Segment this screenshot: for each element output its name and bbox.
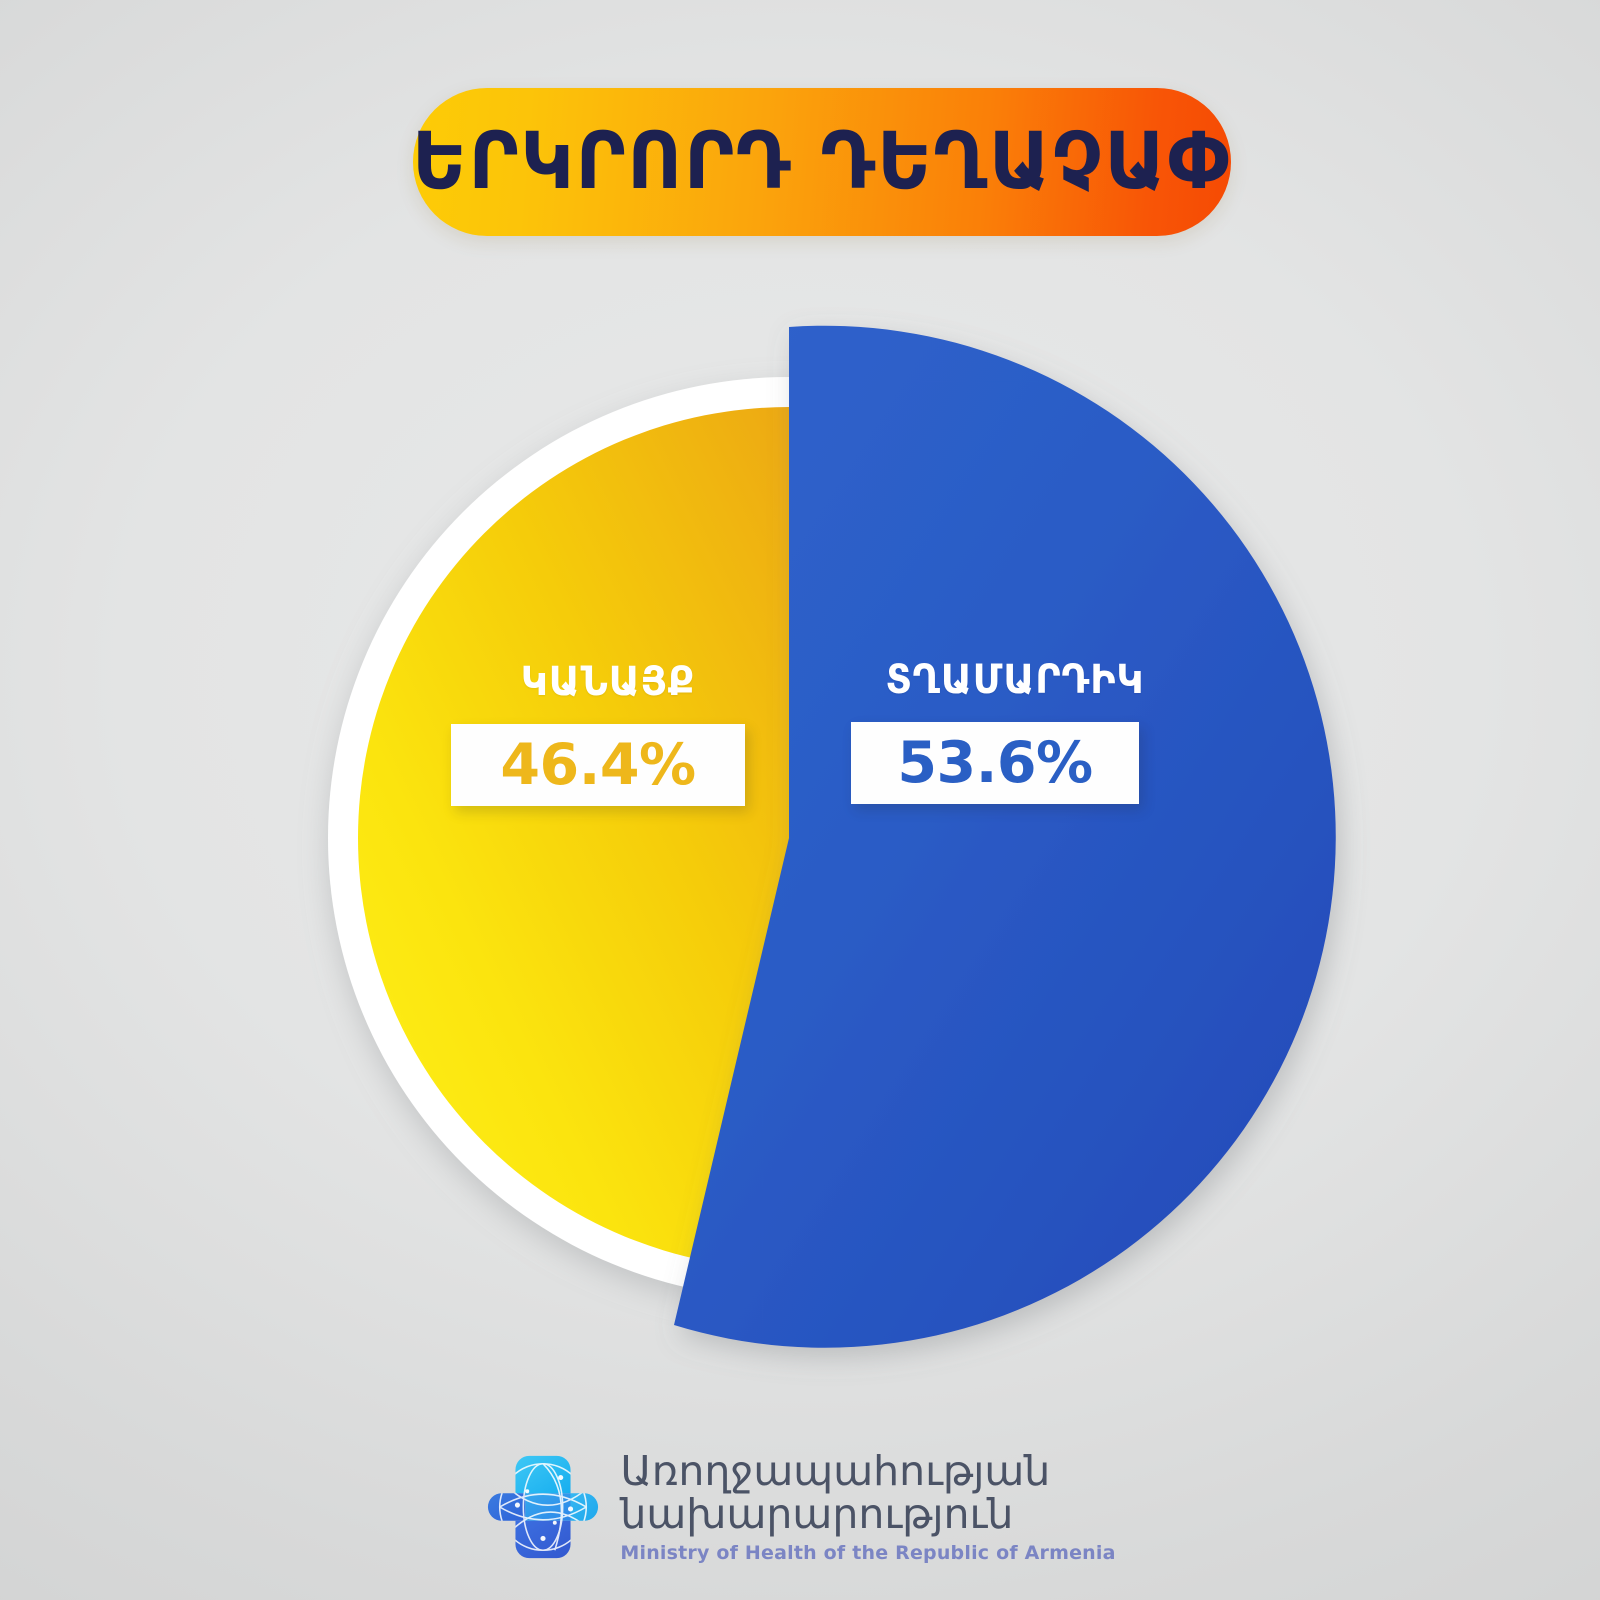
ministry-name-line1: Առողջապահության bbox=[620, 1450, 1115, 1493]
pie-slice-men bbox=[674, 326, 1336, 1348]
pie-white-ring bbox=[328, 377, 1250, 1299]
pie-slice-women bbox=[358, 407, 789, 1269]
infographic-poster: ԵՐԿՐՈՐԴ ԴԵՂԱՉԱՓ bbox=[0, 0, 1600, 1600]
pie-label-women: ԿԱՆԱՅՔ 46.4% bbox=[398, 662, 818, 806]
footer-branding: Առողջապահության նախարարություն Ministry … bbox=[0, 1448, 1600, 1566]
page-title: ԵՐԿՐՈՐԴ ԴԵՂԱՉԱՓ bbox=[412, 123, 1232, 201]
ministry-name-english: Ministry of Health of the Republic of Ar… bbox=[620, 1542, 1115, 1564]
ministry-name-line2: նախարարություն bbox=[620, 1493, 1115, 1536]
title-banner: ԵՐԿՐՈՐԴ ԴԵՂԱՉԱՓ bbox=[413, 88, 1231, 236]
health-cross-globe-logo-icon bbox=[484, 1448, 602, 1566]
pie-label-men-value: 53.6% bbox=[851, 722, 1139, 804]
pie-label-women-value: 46.4% bbox=[451, 724, 745, 806]
pie-label-men: ՏՂԱՄԱՐԴԻԿ 53.6% bbox=[805, 660, 1225, 804]
pie-label-men-name: ՏՂԱՄԱՐԴԻԿ bbox=[816, 660, 1215, 700]
pie-label-women-name: ԿԱՆԱՅՔ bbox=[409, 662, 808, 702]
footer-text-block: Առողջապահության նախարարություն Ministry … bbox=[620, 1450, 1115, 1564]
